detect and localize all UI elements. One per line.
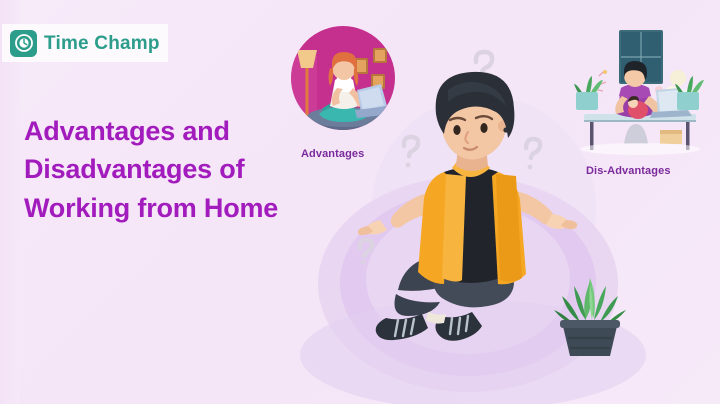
title-line-2: Disadvantages of xyxy=(24,150,334,188)
wfh-banner: Time Champ Advantages and Disadvantages … xyxy=(0,0,720,404)
page-title: Advantages and Disadvantages of Working … xyxy=(24,112,334,227)
disadvantages-caption: Dis-Advantages xyxy=(586,165,671,177)
clock-in-square-icon xyxy=(10,30,37,57)
title-line-1: Advantages and xyxy=(24,112,334,150)
brand-logo[interactable]: Time Champ xyxy=(10,28,160,58)
brand-name: Time Champ xyxy=(44,34,160,53)
advantages-caption: Advantages xyxy=(301,148,364,160)
title-line-3: Working from Home xyxy=(24,189,334,227)
potted-plant-illustration xyxy=(548,262,632,360)
